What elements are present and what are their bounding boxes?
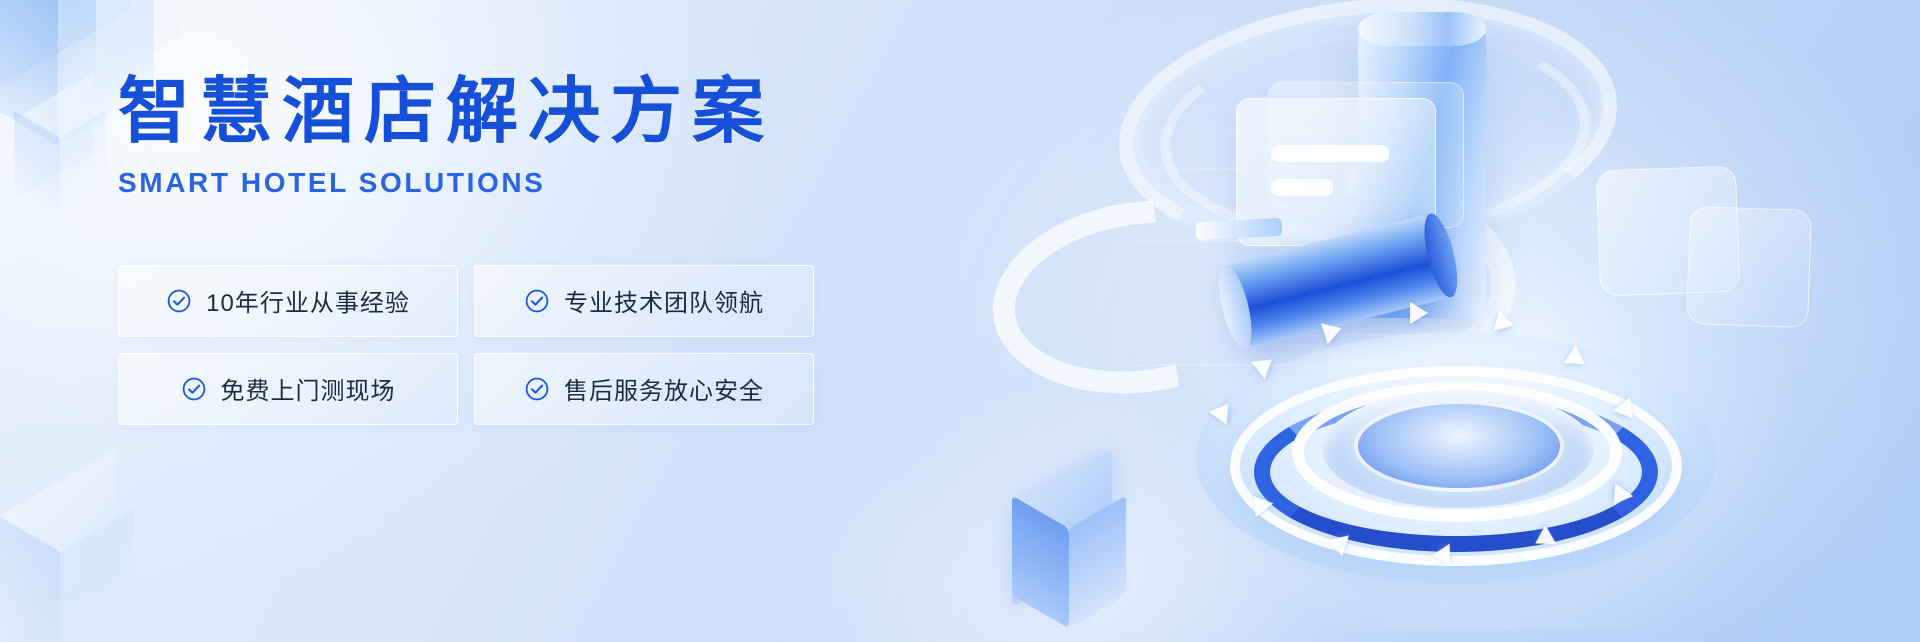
platform-center-dome xyxy=(1354,400,1564,492)
arrow-chevron-icon xyxy=(1432,544,1451,567)
arrow-chevron-icon xyxy=(1530,525,1557,553)
background-wash-right xyxy=(1080,162,1920,642)
scene-glow xyxy=(1180,110,1800,630)
arrow-chevron-icon xyxy=(1410,302,1428,324)
arrow-chevron-icon xyxy=(1563,345,1590,373)
arrow-chevron-icon xyxy=(1613,397,1641,425)
glass-cube-small-left-icon xyxy=(14,96,124,216)
feature-label: 专业技术团队领航 xyxy=(564,283,764,318)
arrow-chevron-icon xyxy=(1493,310,1516,336)
page-title: 智慧酒店解决方案 xyxy=(118,72,878,153)
platform-glow xyxy=(1196,332,1716,584)
check-circle-icon xyxy=(166,288,192,314)
smart-hotel-3d-illustration xyxy=(1000,0,1920,642)
arrow-chevron-icon xyxy=(1325,530,1349,556)
smart-hotel-banner: 智慧酒店解决方案 SMART HOTEL SOLUTIONS 10年行业从事经验… xyxy=(0,0,1920,642)
platform-ring-white-inner xyxy=(1292,382,1622,522)
arrow-chevron-icon xyxy=(1209,397,1237,424)
platform-tick-marks xyxy=(1346,394,1572,498)
card-bar-long xyxy=(1271,145,1389,162)
arrow-chevron-icon xyxy=(1605,483,1633,510)
feature-label: 免费上门测现场 xyxy=(221,371,396,406)
feature-list: 10年行业从事经验专业技术团队领航免费上门测现场售后服务放心安全 xyxy=(118,265,878,425)
glass-cube-bottom-left-icon xyxy=(0,486,166,642)
blue-cube-icon xyxy=(1012,478,1152,628)
feature-label: 10年行业从事经验 xyxy=(206,283,410,318)
check-circle-icon xyxy=(181,376,207,402)
speed-lines-decor xyxy=(1020,120,1580,380)
check-circle-icon xyxy=(524,376,550,402)
page-subtitle: SMART HOTEL SOLUTIONS xyxy=(118,167,878,199)
floating-rect-b-icon xyxy=(1686,206,1812,328)
glass-ring-outer-icon xyxy=(1106,0,1629,275)
floating-rect-a-icon xyxy=(1596,166,1740,297)
platform-ring-white-outer xyxy=(1230,366,1682,566)
blue-cylinder-icon xyxy=(1225,214,1452,349)
feature-item[interactable]: 免费上门测现场 xyxy=(118,353,458,425)
feature-item[interactable]: 专业技术团队领航 xyxy=(474,265,814,337)
banner-content: 智慧酒店解决方案 SMART HOTEL SOLUTIONS 10年行业从事经验… xyxy=(118,72,878,425)
glass-ribbon-right-icon xyxy=(1176,153,1526,396)
feature-label: 售后服务放心安全 xyxy=(564,371,764,406)
platform-core-disc xyxy=(1322,390,1594,508)
small-tab-icon xyxy=(1196,218,1283,240)
feature-item[interactable]: 售后服务放心安全 xyxy=(474,353,814,425)
arrow-chevron-icon xyxy=(1245,489,1273,517)
arrow-chevron-icon xyxy=(1251,351,1279,379)
frosted-card-icon xyxy=(1236,98,1436,246)
card-bar-short xyxy=(1271,179,1333,196)
platform-ring-blue xyxy=(1254,392,1658,552)
arrow-chevron-icon xyxy=(1321,318,1345,344)
glass-ring-inner-icon xyxy=(1153,15,1597,254)
feature-item[interactable]: 10年行业从事经验 xyxy=(118,265,458,337)
glass-ribbon-left-icon xyxy=(980,182,1304,412)
ghost-card-icon xyxy=(1268,82,1464,228)
tall-glass-panel-icon xyxy=(1358,28,1486,318)
check-circle-icon xyxy=(524,288,550,314)
circular-tech-platform-icon xyxy=(1196,296,1716,596)
